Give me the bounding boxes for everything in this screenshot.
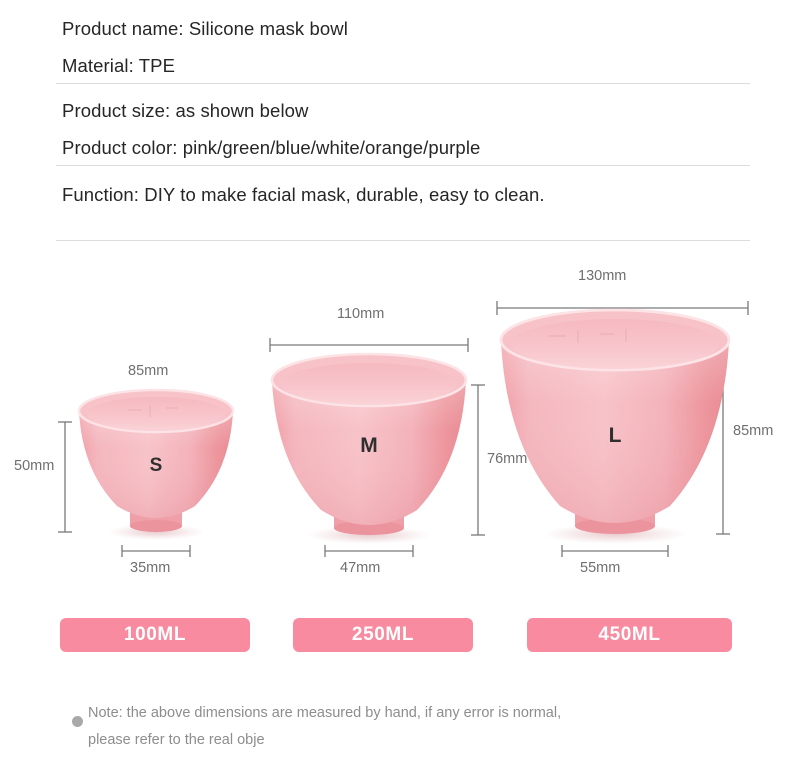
bowl-diagram-svg: S M xyxy=(0,258,790,598)
dim-top-width-m: 110mm xyxy=(337,306,384,322)
note-line-1: Note: the above dimensions are measured … xyxy=(88,700,738,727)
bowl-size-label-s: S xyxy=(150,455,163,476)
dim-base-width-m: 47mm xyxy=(340,560,380,576)
dim-top-width-l: 130mm xyxy=(578,268,626,284)
divider-2 xyxy=(56,165,750,166)
spec-product-size: Product size: as shown below xyxy=(62,92,480,129)
bowl-large: L xyxy=(501,310,729,544)
capacity-badge-l[interactable]: 450ML xyxy=(527,618,732,652)
capacity-badge-m[interactable]: 250ML xyxy=(293,618,473,652)
divider-1 xyxy=(56,83,750,84)
bowl-diagram: S M xyxy=(0,258,790,598)
spec-product-color: Product color: pink/green/blue/white/ora… xyxy=(62,129,480,166)
note-bullet-icon xyxy=(72,716,83,727)
bowl-medium: M xyxy=(272,354,466,544)
spec-material: Material: TPE xyxy=(62,47,348,84)
spec-group-1: Product name: Silicone mask bowl Materia… xyxy=(0,10,348,84)
footer-note: Note: the above dimensions are measured … xyxy=(88,700,738,754)
dim-top-width-s: 85mm xyxy=(128,363,168,379)
dim-height-l: 85mm xyxy=(733,423,773,439)
spec-function: Function: DIY to make facial mask, durab… xyxy=(62,176,545,213)
note-line-2: please refer to the real obje xyxy=(88,727,738,754)
dim-base-width-s: 35mm xyxy=(130,560,170,576)
capacity-badge-s[interactable]: 100ML xyxy=(60,618,250,652)
divider-3 xyxy=(56,240,750,241)
bowl-size-label-l: L xyxy=(609,424,622,447)
spec-group-2: Product size: as shown below Product col… xyxy=(0,92,480,166)
bowl-small: S xyxy=(79,390,233,540)
dim-height-s: 50mm xyxy=(14,458,54,474)
capacity-badges: 100ML 250ML 450ML xyxy=(0,618,790,652)
dim-base-width-l: 55mm xyxy=(580,560,620,576)
bowl-size-label-m: M xyxy=(360,434,378,457)
spec-group-3: Function: DIY to make facial mask, durab… xyxy=(0,176,545,213)
spec-product-name: Product name: Silicone mask bowl xyxy=(62,10,348,47)
dim-height-m: 76mm xyxy=(487,451,527,467)
